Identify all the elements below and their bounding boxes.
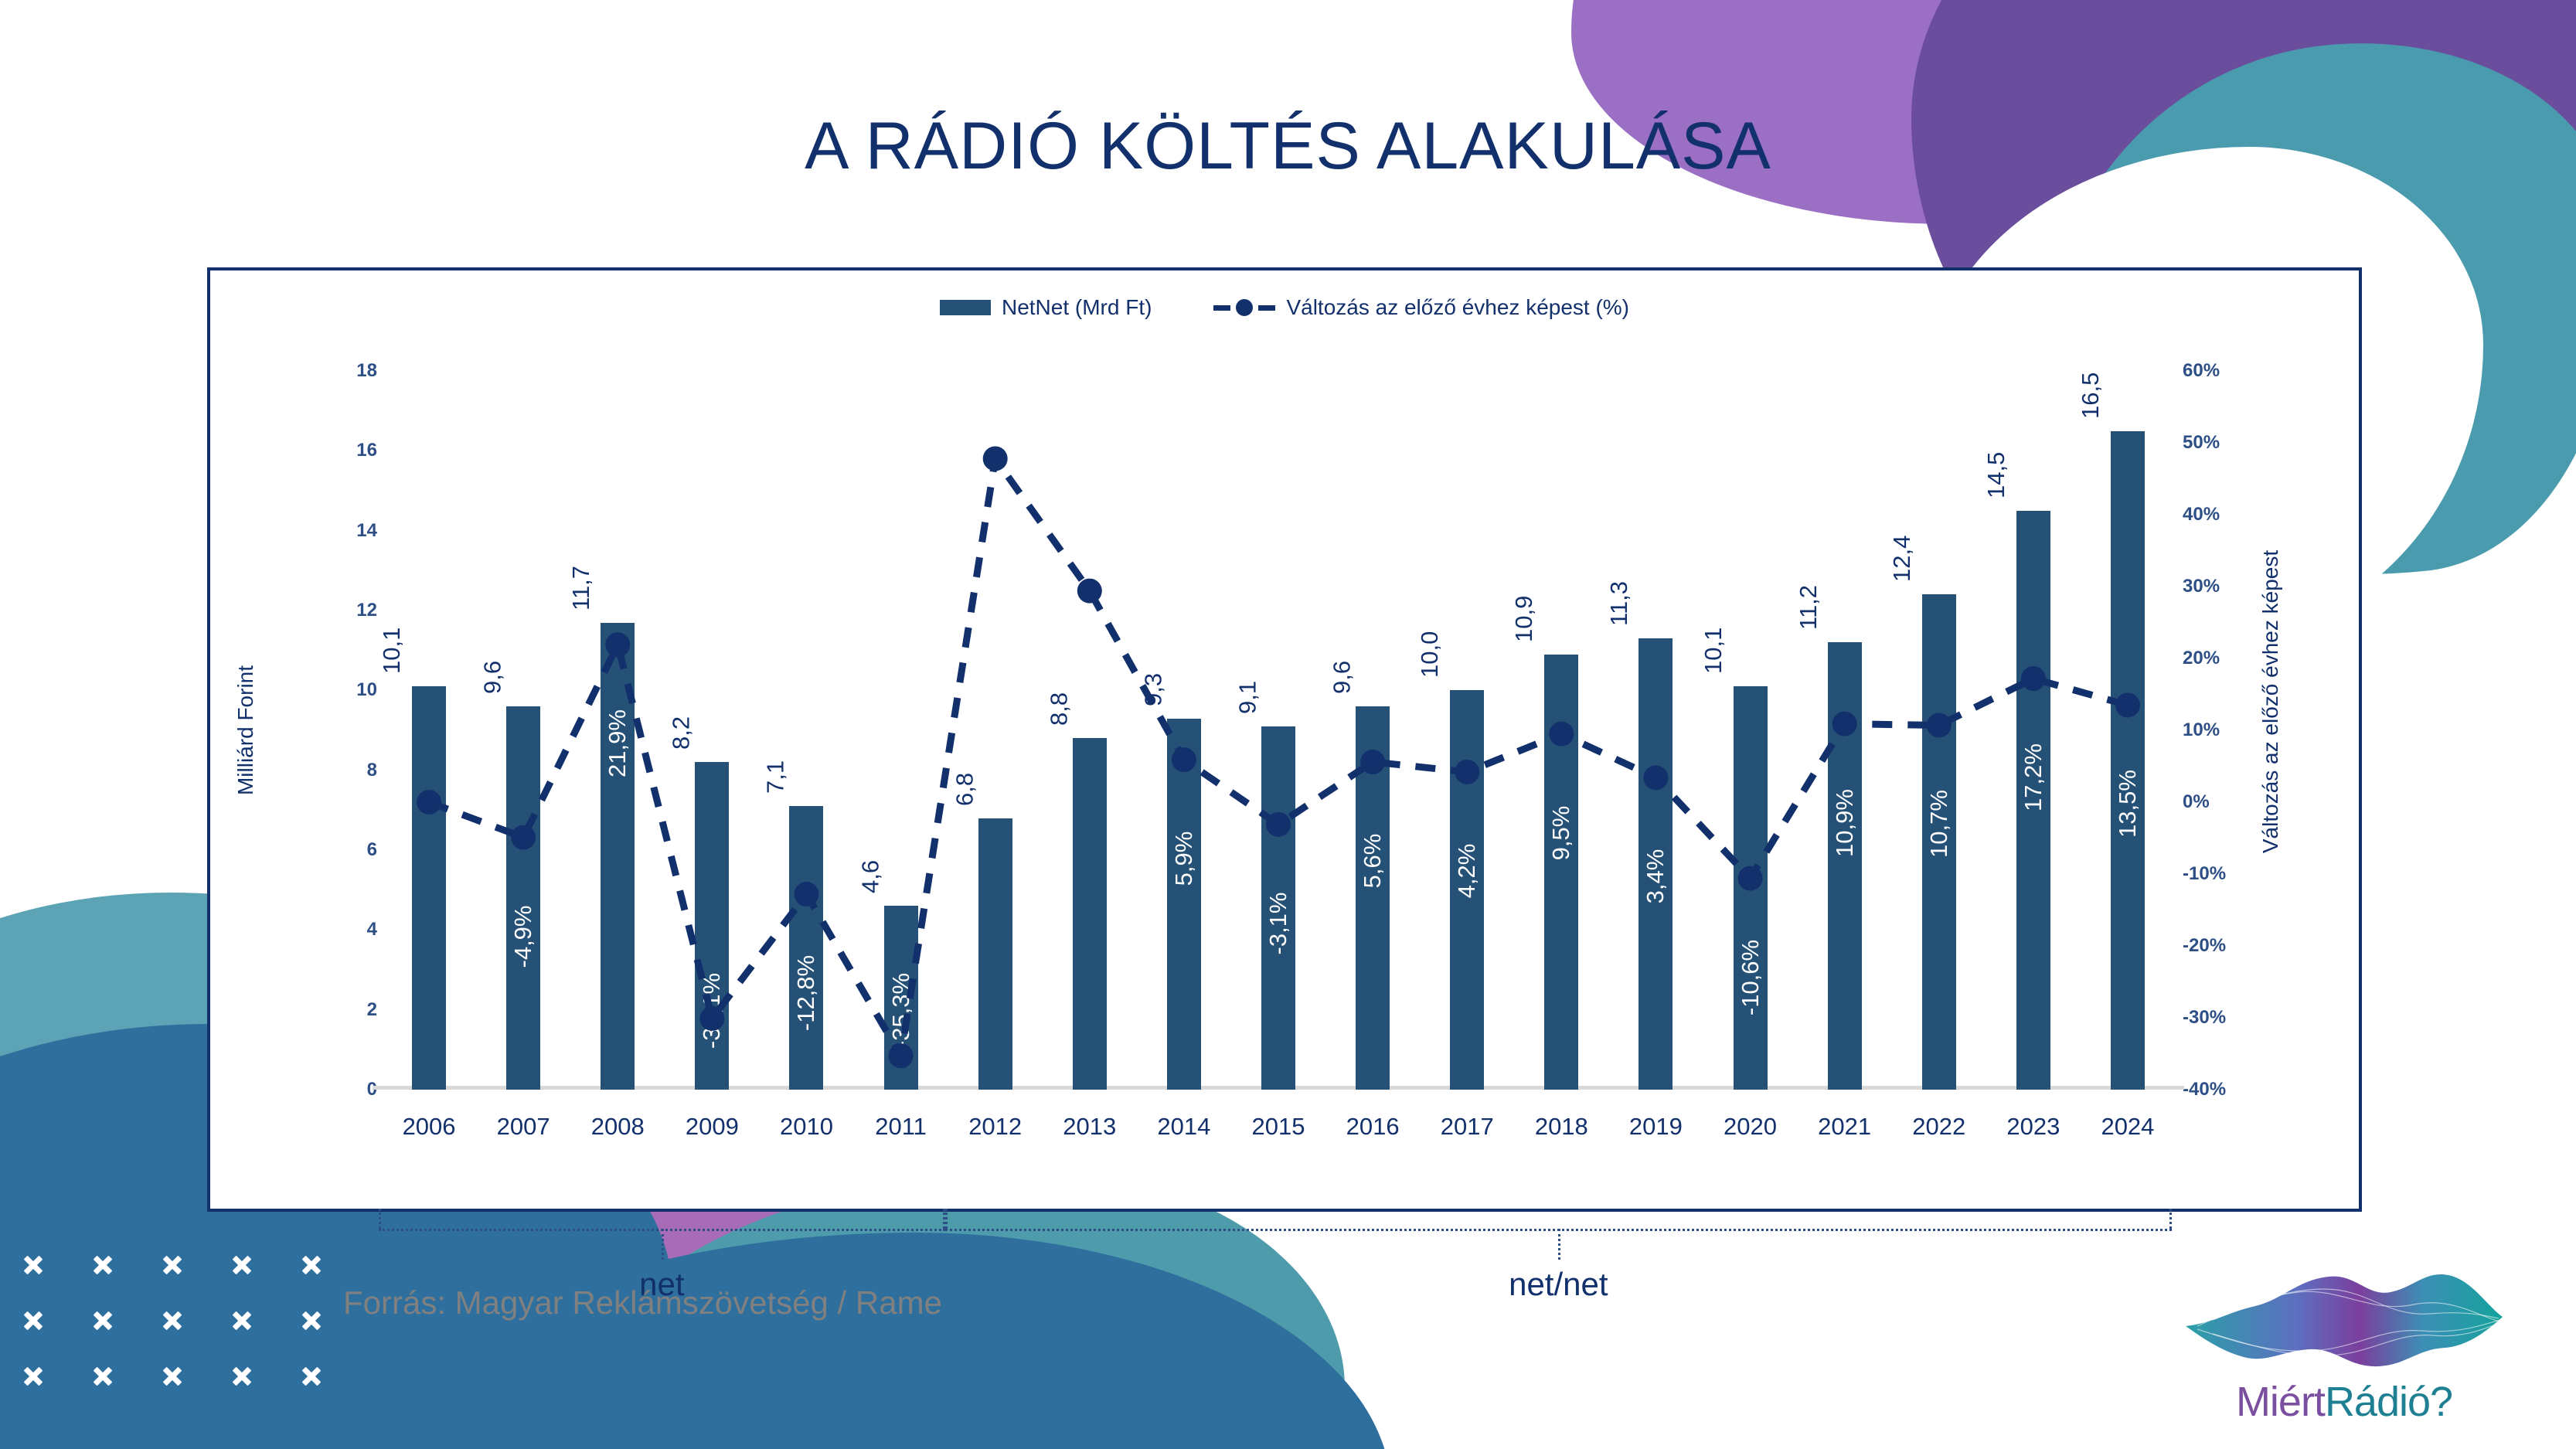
chart-panel: NetNet (Mrd Ft) Változás az előző évhez … — [207, 267, 2362, 1212]
y2-tick: 40% — [2183, 504, 2220, 526]
cross-icon — [232, 1366, 252, 1386]
line-marker[interactable] — [699, 1006, 724, 1031]
x-tick-label: 2009 — [686, 1113, 739, 1141]
y-tick: 4 — [367, 919, 377, 940]
y-tick: 6 — [367, 839, 377, 861]
line-marker[interactable] — [889, 1043, 914, 1068]
x-tick-label: 2016 — [1346, 1113, 1400, 1141]
cross-icon — [232, 1311, 252, 1331]
legend-label-bars: NetNet (Mrd Ft) — [1002, 295, 1152, 320]
line-marker[interactable] — [511, 825, 536, 850]
line-marker[interactable] — [605, 632, 630, 657]
chart-legend: NetNet (Mrd Ft) Változás az előző évhez … — [210, 295, 2359, 320]
x-tick-label: 2019 — [1629, 1113, 1683, 1141]
y2-tick: 20% — [2183, 648, 2220, 669]
y-tick: 8 — [367, 760, 377, 781]
line-marker[interactable] — [1360, 750, 1385, 774]
y-axis-ticks: 024681012141618 — [308, 371, 377, 1090]
cross-icon — [23, 1255, 43, 1275]
logo-wordmark: MiértRádió? — [2182, 1378, 2506, 1426]
x-tick-label: 2011 — [875, 1113, 927, 1141]
y2-tick: -10% — [2183, 863, 2226, 885]
line-marker[interactable] — [2021, 666, 2046, 691]
legend-line-marker-icon — [1213, 299, 1275, 316]
logo-text-miert: Miért — [2236, 1379, 2325, 1425]
legend-item-line: Változás az előző évhez képest (%) — [1213, 295, 1629, 320]
line-series — [382, 371, 2175, 1090]
legend-label-line: Változás az előző évhez képest (%) — [1286, 295, 1629, 320]
y-tick: 14 — [356, 520, 377, 542]
source-note: Forrás: Magyar Reklámszövetség / Rame — [343, 1284, 942, 1321]
y-tick: 10 — [356, 679, 377, 701]
line-marker[interactable] — [1077, 579, 1102, 604]
x-tick-label: 2018 — [1535, 1113, 1588, 1141]
x-tick-label: 2013 — [1063, 1113, 1116, 1141]
y2-tick: 60% — [2183, 360, 2220, 382]
y2-axis-ticks: -40%-30%-20%-10%0%10%20%30%40%50%60% — [2183, 371, 2268, 1090]
line-marker[interactable] — [983, 446, 1008, 471]
line-marker[interactable] — [1643, 765, 1668, 790]
x-tick-label: 2006 — [403, 1113, 456, 1141]
cross-icon — [23, 1311, 43, 1331]
line-marker[interactable] — [1266, 812, 1291, 837]
cross-icon — [162, 1255, 182, 1275]
y-tick: 16 — [356, 440, 377, 461]
x-tick-label: 2014 — [1157, 1113, 1210, 1141]
cross-icon — [301, 1311, 322, 1331]
line-marker[interactable] — [1832, 712, 1857, 736]
line-marker[interactable] — [1549, 722, 1574, 747]
x-tick-label: 2021 — [1818, 1113, 1871, 1141]
page-title: A RÁDIÓ KÖLTÉS ALAKULÁSA — [0, 108, 2576, 185]
legend-item-bars: NetNet (Mrd Ft) — [940, 295, 1152, 320]
waveform-icon — [2182, 1266, 2506, 1382]
y-tick: 18 — [356, 360, 377, 382]
x-tick-label: 2007 — [497, 1113, 550, 1141]
cross-icon — [162, 1311, 182, 1331]
y2-tick: -30% — [2183, 1007, 2226, 1029]
cross-icon — [93, 1311, 113, 1331]
x-tick-label: 2023 — [2006, 1113, 2060, 1141]
line-marker[interactable] — [1172, 747, 1196, 772]
cross-icon — [232, 1255, 252, 1275]
x-axis-labels: 2006200720082009201020112012201320142015… — [382, 1090, 2175, 1151]
line-marker[interactable] — [794, 882, 818, 906]
y-tick: 2 — [367, 999, 377, 1021]
y-tick: 0 — [367, 1079, 377, 1100]
y2-tick: 50% — [2183, 432, 2220, 454]
y2-tick: 0% — [2183, 791, 2210, 813]
blob-bottom-blue2-icon — [309, 1233, 1391, 1449]
x-tick-label: 2010 — [780, 1113, 833, 1141]
x-tick-label: 2017 — [1441, 1113, 1494, 1141]
x-tick-label: 2020 — [1724, 1113, 1777, 1141]
y-axis-title: Milliárd Forint — [233, 665, 258, 795]
cross-pattern-decoration — [23, 1255, 322, 1422]
y2-tick: -20% — [2183, 935, 2226, 957]
cross-icon — [301, 1255, 322, 1275]
x-tick-label: 2024 — [2101, 1113, 2154, 1141]
line-marker[interactable] — [1927, 713, 1952, 737]
cross-icon — [93, 1366, 113, 1386]
trend-line — [429, 458, 2128, 1056]
legend-bar-swatch-icon — [940, 300, 991, 315]
bracket-label: net/net — [1509, 1266, 1608, 1303]
y2-tick: 10% — [2183, 719, 2220, 741]
x-tick-label: 2012 — [968, 1113, 1022, 1141]
cross-icon — [93, 1255, 113, 1275]
miert-radio-logo: MiértRádió? — [2182, 1266, 2506, 1432]
cross-icon — [162, 1366, 182, 1386]
cross-icon — [23, 1366, 43, 1386]
cross-icon — [301, 1366, 322, 1386]
line-marker[interactable] — [1738, 866, 1763, 891]
x-tick-label: 2008 — [591, 1113, 645, 1141]
logo-text-radio: Rádió? — [2325, 1379, 2452, 1425]
y2-tick: 30% — [2183, 576, 2220, 597]
y-tick: 12 — [356, 600, 377, 621]
plot-area: Milliárd Forint Változás az előző évhez … — [382, 371, 2175, 1090]
y2-tick: -40% — [2183, 1079, 2226, 1100]
x-tick-label: 2022 — [1912, 1113, 1965, 1141]
line-marker[interactable] — [1455, 760, 1479, 784]
line-marker[interactable] — [417, 790, 441, 815]
x-tick-label: 2015 — [1252, 1113, 1305, 1141]
line-marker[interactable] — [2115, 692, 2140, 717]
